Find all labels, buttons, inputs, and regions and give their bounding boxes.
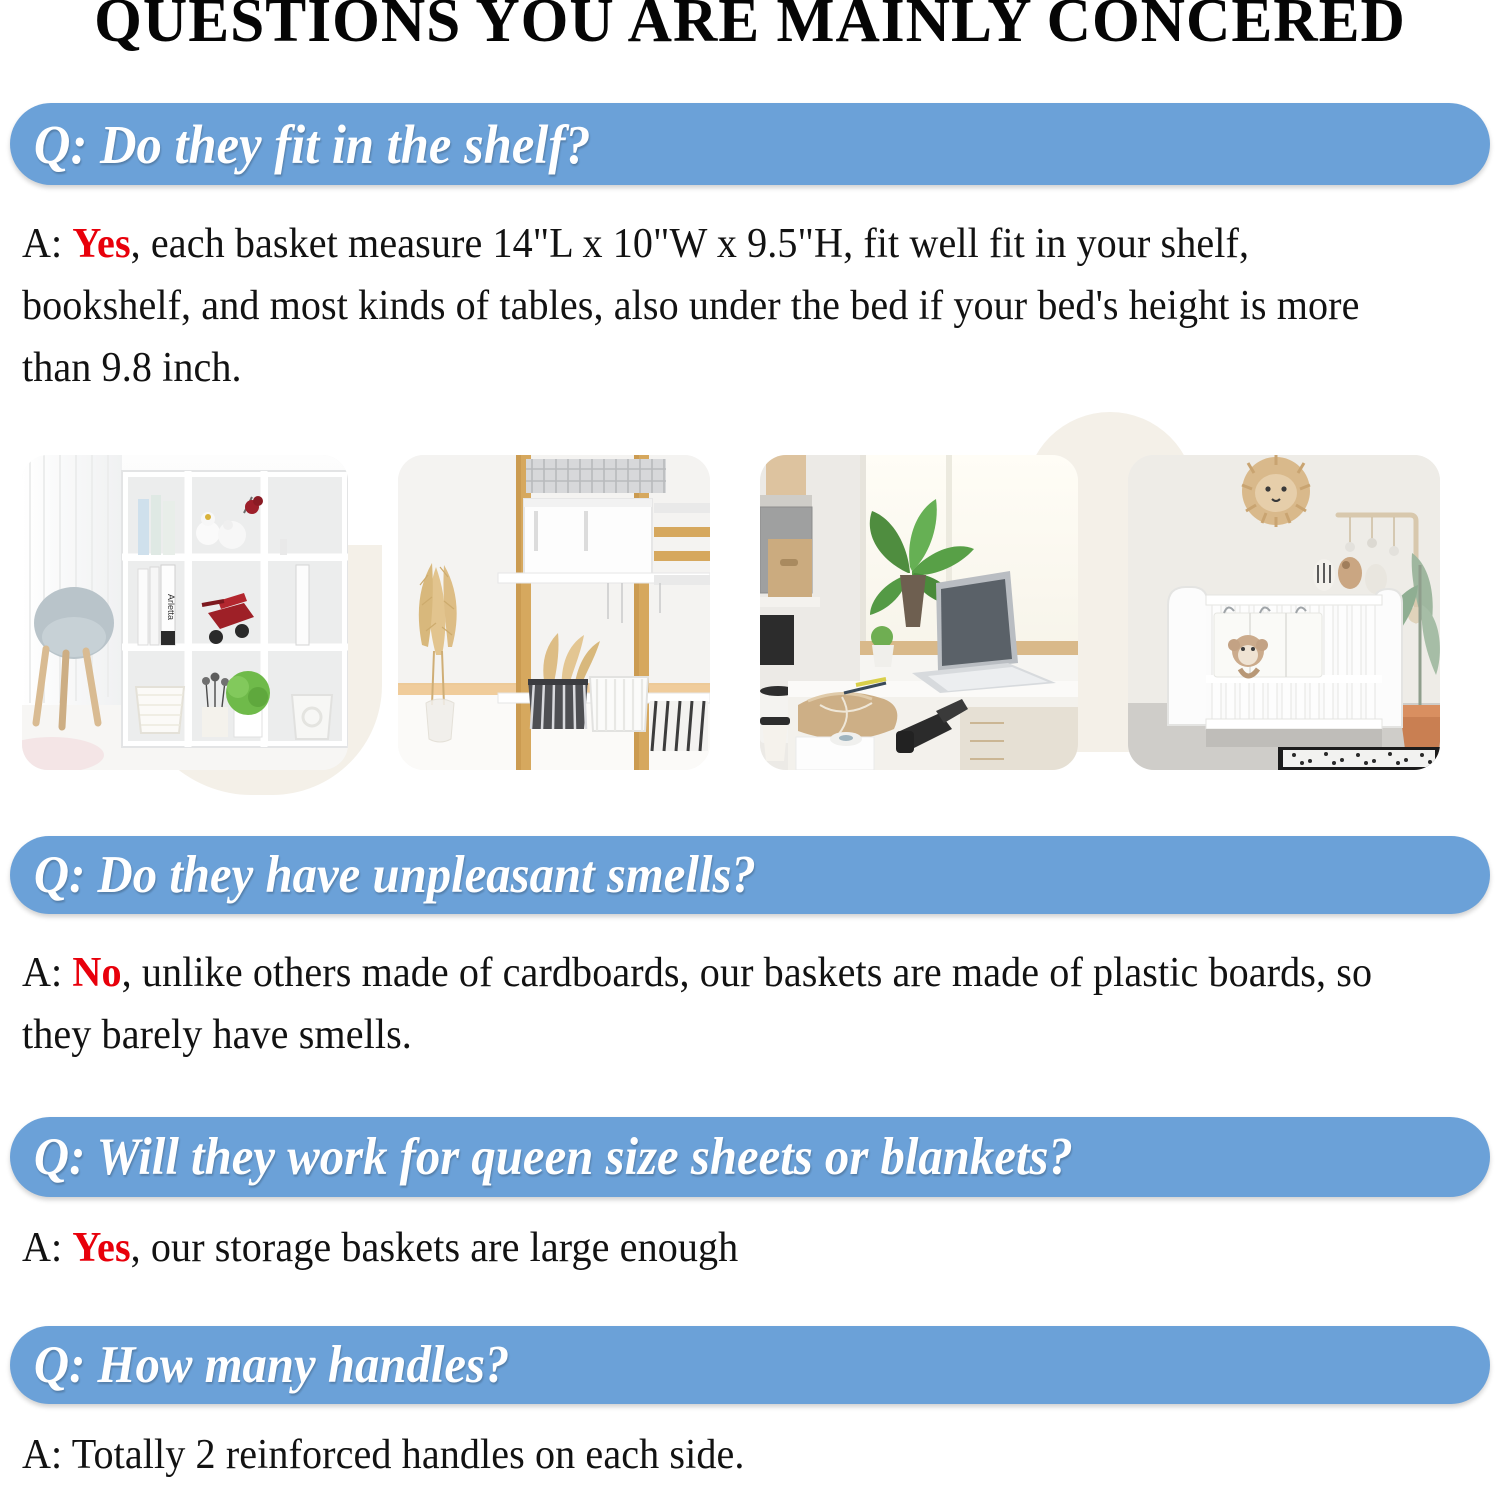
faq-question-text-2: Q: Do they have unpleasant smells?	[10, 845, 756, 905]
faq-answer-1: A: Yes, each basket measure 14"L x 10"W …	[22, 213, 1421, 399]
answer-highlight-2: No	[72, 950, 121, 996]
faq-question-banner-2: Q: Do they have unpleasant smells?	[10, 836, 1490, 914]
photo-bamboo-shelf-storage-bins	[398, 455, 710, 770]
answer-highlight-1: Yes	[72, 221, 130, 267]
faq-answer-3: A: Yes, our storage baskets are large en…	[22, 1217, 1407, 1279]
faq-question-text-1: Q: Do they fit in the shelf?	[10, 113, 591, 176]
answer-body-1: , each basket measure 14"L x 10"W x 9.5"…	[22, 221, 1360, 391]
photo-nursery-white-crib	[1128, 455, 1440, 770]
answer-body-3: , our storage baskets are large enough	[131, 1225, 739, 1271]
answer-prefix-4: A:	[22, 1432, 72, 1478]
answer-prefix-3: A:	[22, 1225, 72, 1271]
answer-body-2: , unlike others made of cardboards, our …	[22, 950, 1372, 1058]
answer-body-4: Totally 2 reinforced handles on each sid…	[72, 1432, 745, 1478]
faq-question-banner-4: Q: How many handles?	[10, 1326, 1490, 1404]
faq-answer-4: A: Totally 2 reinforced handles on each …	[22, 1424, 1407, 1486]
faq-question-banner-3: Q: Will they work for queen size sheets …	[10, 1117, 1490, 1197]
photo-white-cube-bookshelf-living-room: Arletta	[22, 455, 348, 770]
faq-question-text-4: Q: How many handles?	[10, 1335, 509, 1395]
faq-answer-2: A: No, unlike others made of cardboards,…	[22, 942, 1407, 1066]
answer-highlight-3: Yes	[72, 1225, 130, 1271]
faq-question-text-3: Q: Will they work for queen size sheets …	[10, 1127, 1073, 1187]
svg-text:Arletta: Arletta	[166, 594, 176, 620]
photo-home-office-desk-laptop	[760, 455, 1078, 770]
answer-prefix-1: A:	[22, 221, 72, 267]
page-title: QUESTIONS YOU ARE MAINLY CONCERED	[8, 0, 1493, 52]
answer-prefix-2: A:	[22, 950, 72, 996]
faq-question-banner-1: Q: Do they fit in the shelf?	[10, 103, 1490, 185]
